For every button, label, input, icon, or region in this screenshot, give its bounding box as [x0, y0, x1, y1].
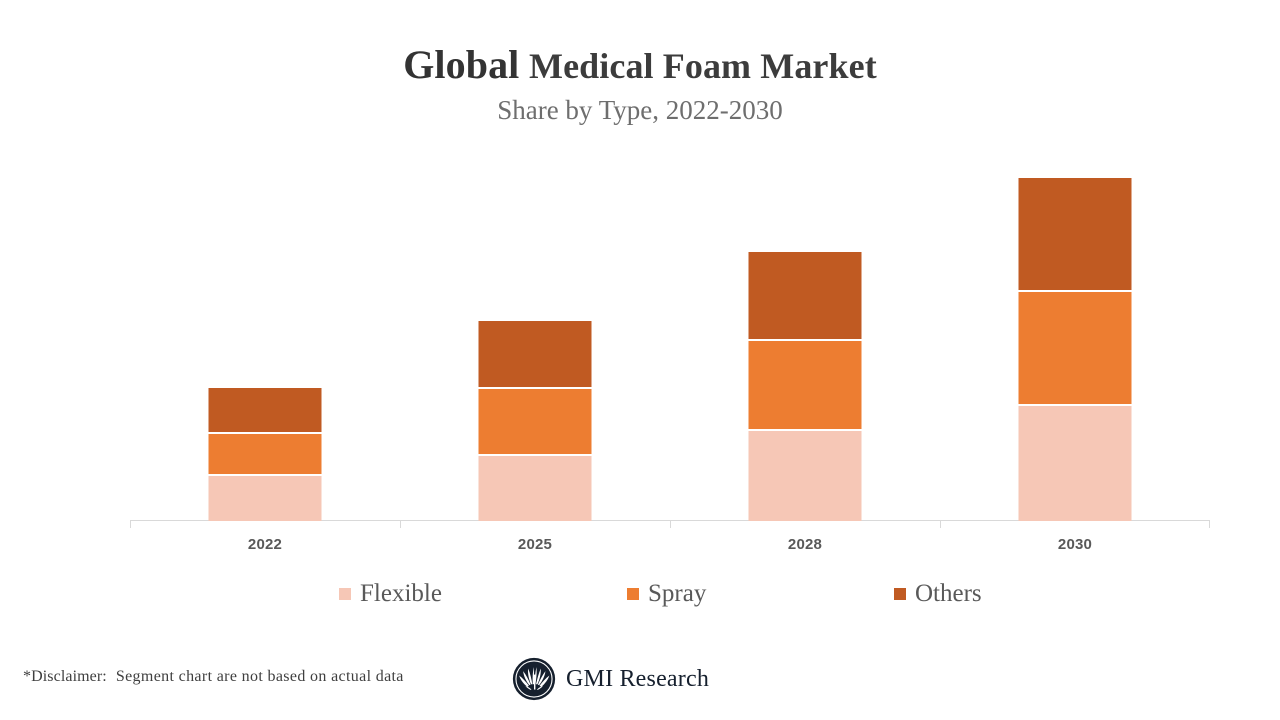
chart-plot-area	[130, 150, 1210, 521]
x-axis-tick	[1209, 521, 1210, 528]
legend-item-others[interactable]: Others	[894, 578, 982, 610]
disclaimer-label: *Disclaimer:	[23, 668, 107, 685]
legend-label-flexible: Flexible	[360, 579, 442, 609]
disclaimer: *Disclaimer:Segment chart are not based …	[23, 666, 404, 688]
x-axis-label-3: 2030	[940, 536, 1210, 553]
bar-segment-others[interactable]	[749, 252, 862, 341]
title-block: Global Medical Foam Market Share by Type…	[0, 42, 1280, 127]
bar-segment-others[interactable]	[209, 388, 322, 434]
bar-segment-spray[interactable]	[479, 389, 592, 456]
legend-label-others: Others	[915, 579, 982, 609]
bar-segment-spray[interactable]	[209, 434, 322, 476]
brand-lockup: GMI Research	[512, 657, 709, 701]
stacked-bar[interactable]	[749, 252, 862, 521]
x-axis-label-2: 2028	[670, 536, 940, 553]
gmi-palm-logo-icon	[512, 657, 556, 701]
page-title: Global Medical Foam Market	[0, 42, 1280, 89]
legend-label-spray: Spray	[648, 579, 706, 609]
legend-item-flexible[interactable]: Flexible	[339, 578, 442, 610]
chart-legend: Flexible Spray Others	[130, 578, 1210, 610]
bar-segment-others[interactable]	[479, 321, 592, 389]
stacked-bar[interactable]	[479, 321, 592, 521]
bar-segment-flexible[interactable]	[749, 431, 862, 521]
disclaimer-text: Segment chart are not based on actual da…	[116, 668, 404, 685]
legend-swatch-flexible-icon	[339, 588, 351, 600]
brand-name: GMI Research	[566, 664, 709, 694]
stacked-bar[interactable]	[209, 388, 322, 521]
x-axis-labels: 2022 2025 2028 2030	[130, 536, 1210, 562]
x-axis-tick	[670, 521, 671, 528]
bar-group-2030[interactable]	[940, 150, 1210, 521]
bar-segment-flexible[interactable]	[479, 456, 592, 521]
page-subtitle: Share by Type, 2022-2030	[0, 93, 1280, 127]
legend-item-spray[interactable]: Spray	[627, 578, 706, 610]
x-axis-tick	[940, 521, 941, 528]
legend-swatch-spray-icon	[627, 588, 639, 600]
bar-segment-flexible[interactable]	[209, 476, 322, 521]
bar-segment-flexible[interactable]	[1019, 406, 1132, 521]
x-axis-tick	[130, 521, 131, 528]
bar-segment-others[interactable]	[1019, 178, 1132, 292]
bar-segment-spray[interactable]	[1019, 292, 1132, 406]
stacked-bar[interactable]	[1019, 178, 1132, 521]
bar-group-2022[interactable]	[130, 150, 400, 521]
bar-group-2028[interactable]	[670, 150, 940, 521]
slide-canvas: Global Medical Foam Market Share by Type…	[0, 0, 1280, 720]
x-axis-label-1: 2025	[400, 536, 670, 553]
page-title-rest: Medical Foam Market	[529, 46, 877, 86]
x-axis-tick	[400, 521, 401, 528]
x-axis-label-0: 2022	[130, 536, 400, 553]
legend-swatch-others-icon	[894, 588, 906, 600]
bar-group-2025[interactable]	[400, 150, 670, 521]
page-title-lead: Global	[403, 42, 519, 87]
bar-segment-spray[interactable]	[749, 341, 862, 431]
